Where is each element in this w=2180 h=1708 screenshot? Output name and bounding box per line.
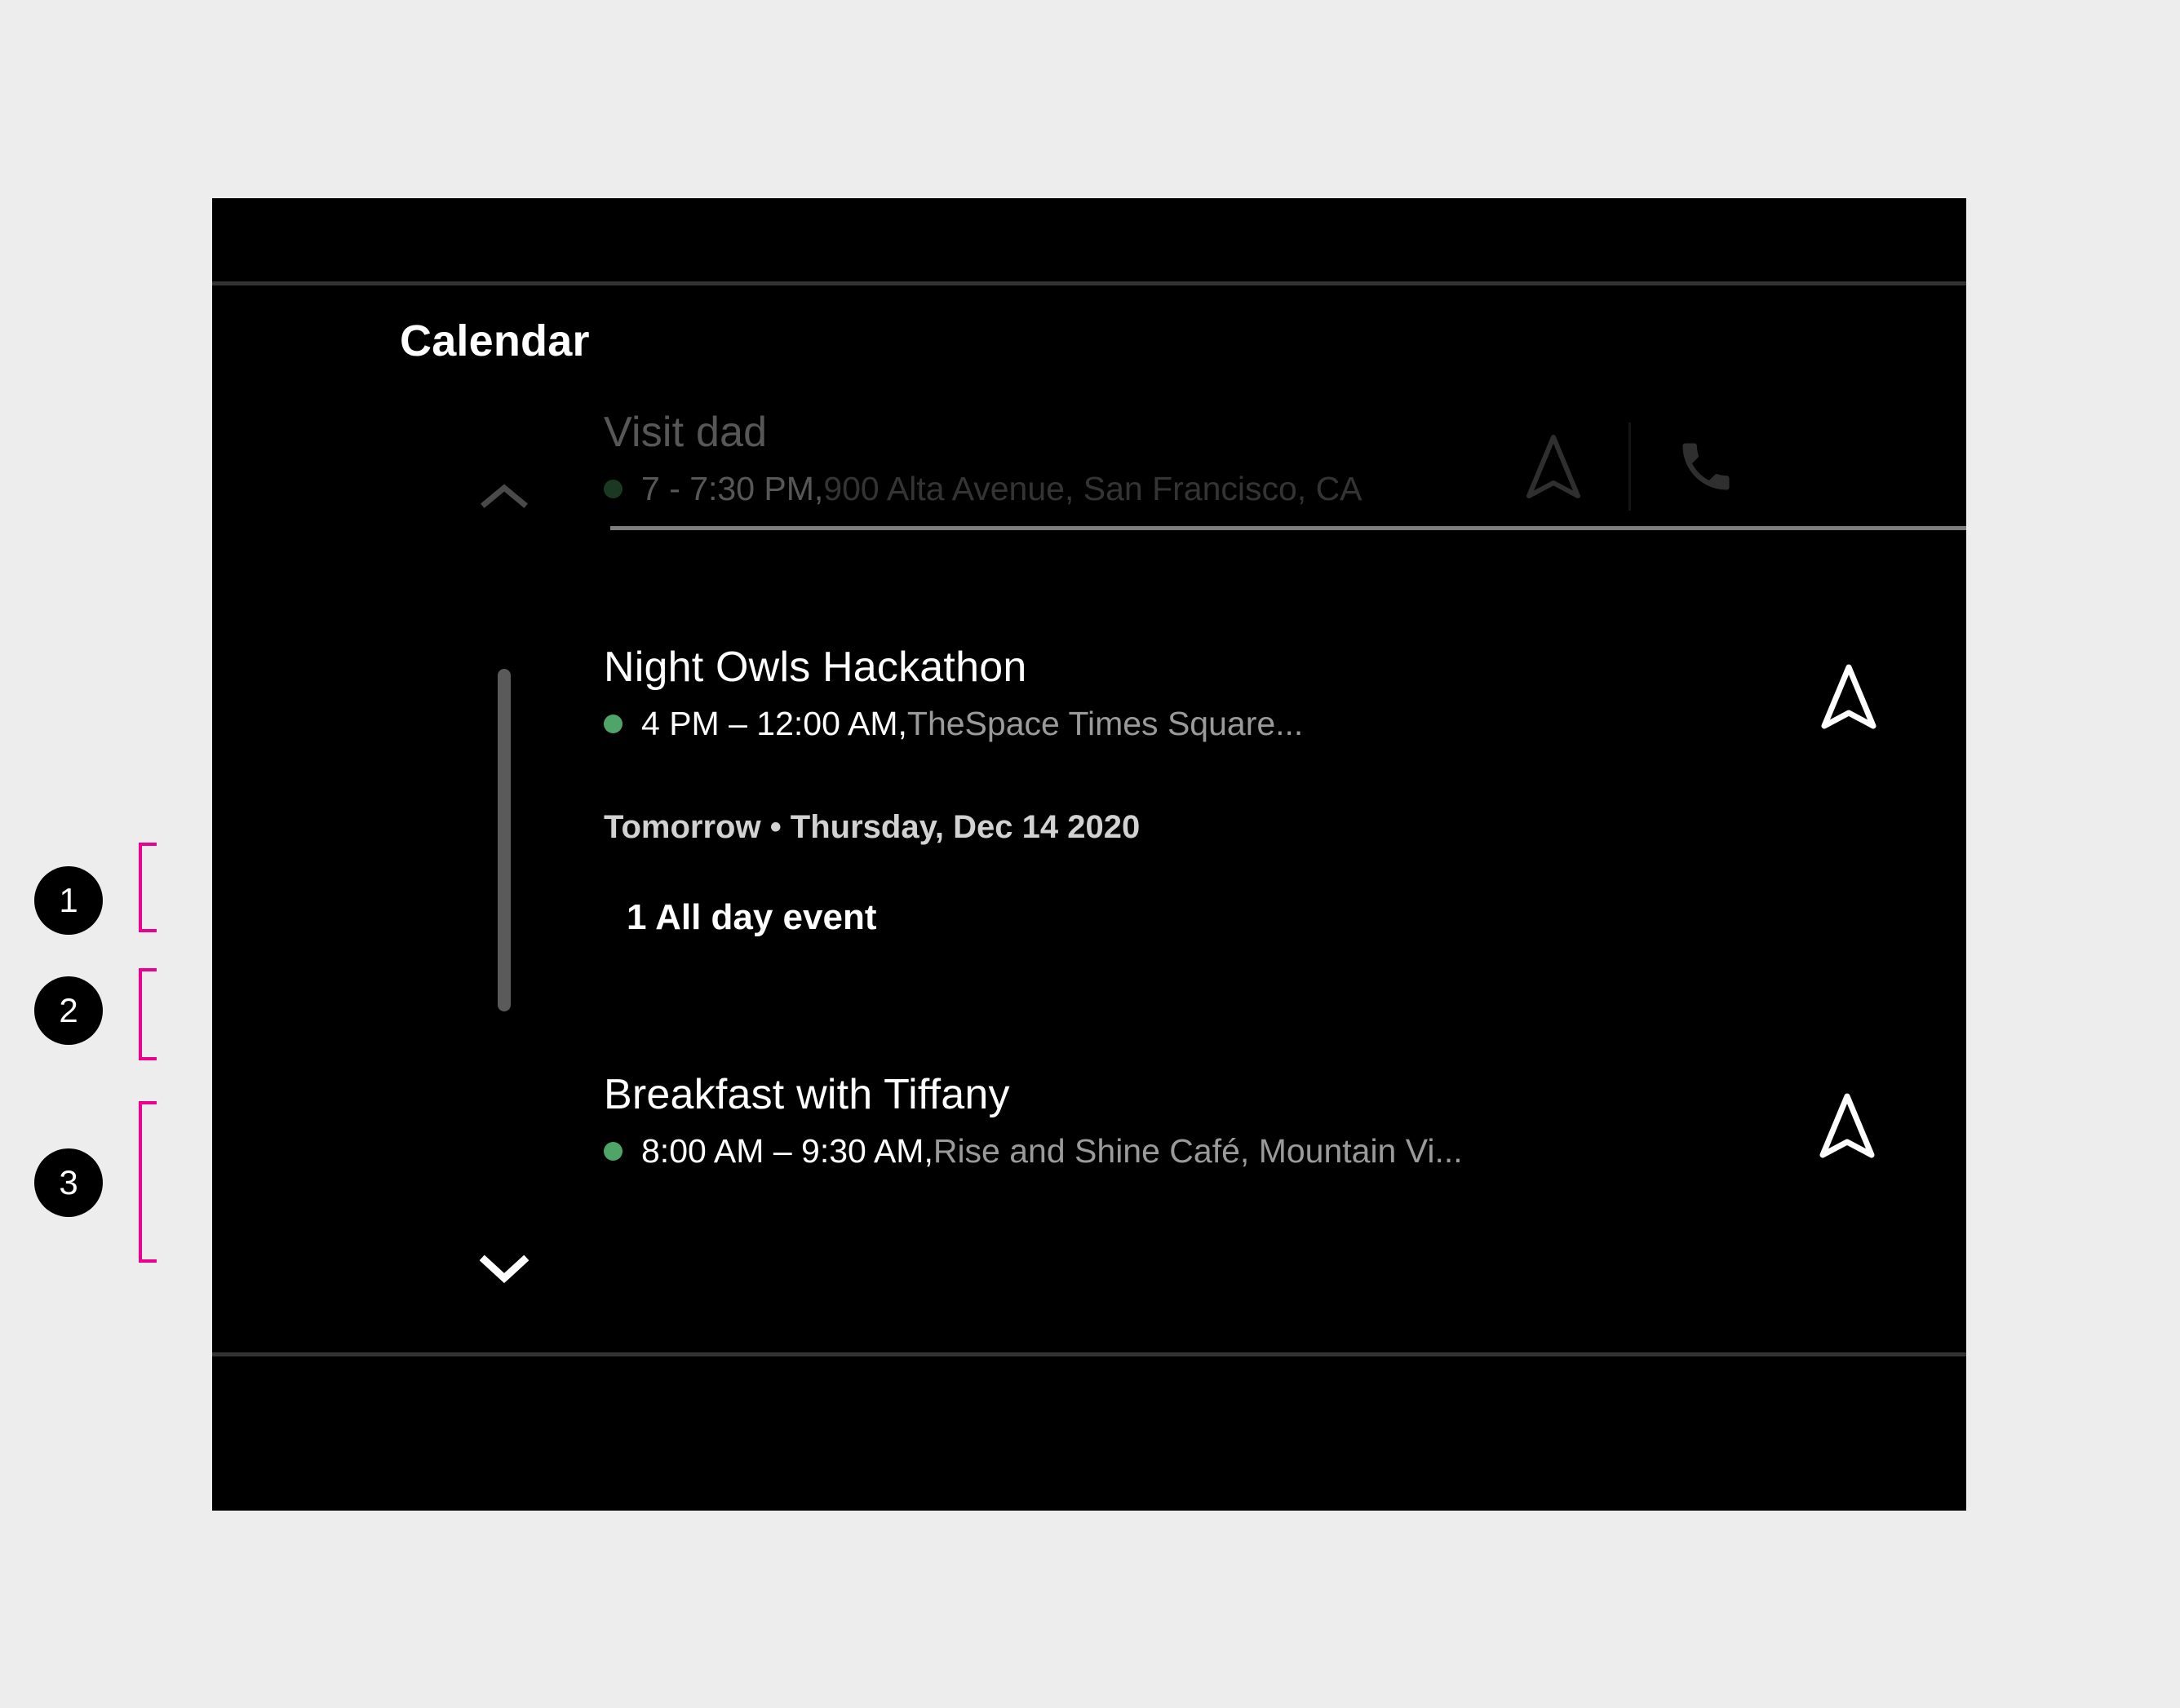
event-actions <box>1516 423 1744 511</box>
annotation-badge-2: 2 <box>34 976 103 1045</box>
navigate-button[interactable] <box>1810 1088 1885 1163</box>
event-actions <box>1810 1088 1885 1163</box>
event-row-breakfast-with-tiffany[interactable]: Breakfast with Tiffany 8:00 AM – 9:30 AM… <box>604 1070 1966 1170</box>
event-time: 7 - 7:30 PM, <box>641 470 823 508</box>
all-day-divider <box>610 526 1966 530</box>
chevron-up-icon <box>472 473 537 522</box>
event-row-visit-dad[interactable]: Visit dad 7 - 7:30 PM, 900 Alta Avenue, … <box>604 408 1966 508</box>
car-display-screen: Calendar Visit dad 7 - 7:30 PM, 90 <box>212 198 1966 1511</box>
annotation-bracket-1 <box>139 843 157 932</box>
event-actions <box>1811 659 1886 734</box>
action-divider <box>1628 423 1631 511</box>
screen-bottom-divider <box>212 1352 1966 1356</box>
call-button[interactable] <box>1668 429 1744 504</box>
event-subtitle: 8:00 AM – 9:30 AM, Rise and Shine Café, … <box>604 1132 1966 1170</box>
event-location: 900 Alta Avenue, San Francisco, CA <box>823 470 1362 508</box>
all-day-event-label: 1 All day event <box>627 897 877 938</box>
event-calendar-color-dot <box>604 480 623 498</box>
event-list: Visit dad 7 - 7:30 PM, 900 Alta Avenue, … <box>604 408 1966 1352</box>
calendar-card: Calendar Visit dad 7 - 7:30 PM, 90 <box>212 285 1966 1352</box>
event-time: 4 PM – 12:00 AM, <box>641 705 907 743</box>
event-time: 8:00 AM – 9:30 AM, <box>641 1132 933 1170</box>
event-subtitle: 7 - 7:30 PM, 900 Alta Avenue, San Franci… <box>604 470 1966 508</box>
navigate-icon <box>1524 432 1583 501</box>
phone-icon <box>1675 436 1737 498</box>
navigate-icon <box>1819 662 1878 731</box>
all-day-event-row[interactable]: 1 All day event <box>627 891 1966 976</box>
scrollbar-thumb[interactable] <box>498 669 511 1011</box>
scroll-up-button[interactable] <box>472 473 537 522</box>
event-title: Visit dad <box>604 408 1966 457</box>
event-title: Breakfast with Tiffany <box>604 1070 1966 1119</box>
page-title: Calendar <box>400 316 590 366</box>
navigate-icon <box>1818 1091 1876 1160</box>
event-calendar-color-dot <box>604 1142 623 1161</box>
event-location: TheSpace Times Square... <box>907 705 1303 743</box>
annotation-bracket-3 <box>139 1101 157 1263</box>
event-title: Night Owls Hackathon <box>604 643 1966 692</box>
navigate-button[interactable] <box>1811 659 1886 734</box>
annotation-badge-3: 3 <box>34 1148 103 1217</box>
event-row-night-owls-hackathon[interactable]: Night Owls Hackathon 4 PM – 12:00 AM, Th… <box>604 643 1966 743</box>
navigate-button[interactable] <box>1516 429 1591 504</box>
annotation-bracket-2 <box>139 968 157 1060</box>
chevron-down-icon <box>472 1244 537 1293</box>
day-header: Tomorrow • Thursday, Dec 14 2020 <box>604 809 1140 846</box>
event-subtitle: 4 PM – 12:00 AM, TheSpace Times Square..… <box>604 705 1966 743</box>
annotation-badge-1: 1 <box>34 866 103 935</box>
event-location: Rise and Shine Café, Mountain Vi... <box>933 1132 1463 1170</box>
scroll-down-button[interactable] <box>472 1244 537 1293</box>
event-calendar-color-dot <box>604 715 623 733</box>
scrollbar-track[interactable] <box>498 530 511 1232</box>
